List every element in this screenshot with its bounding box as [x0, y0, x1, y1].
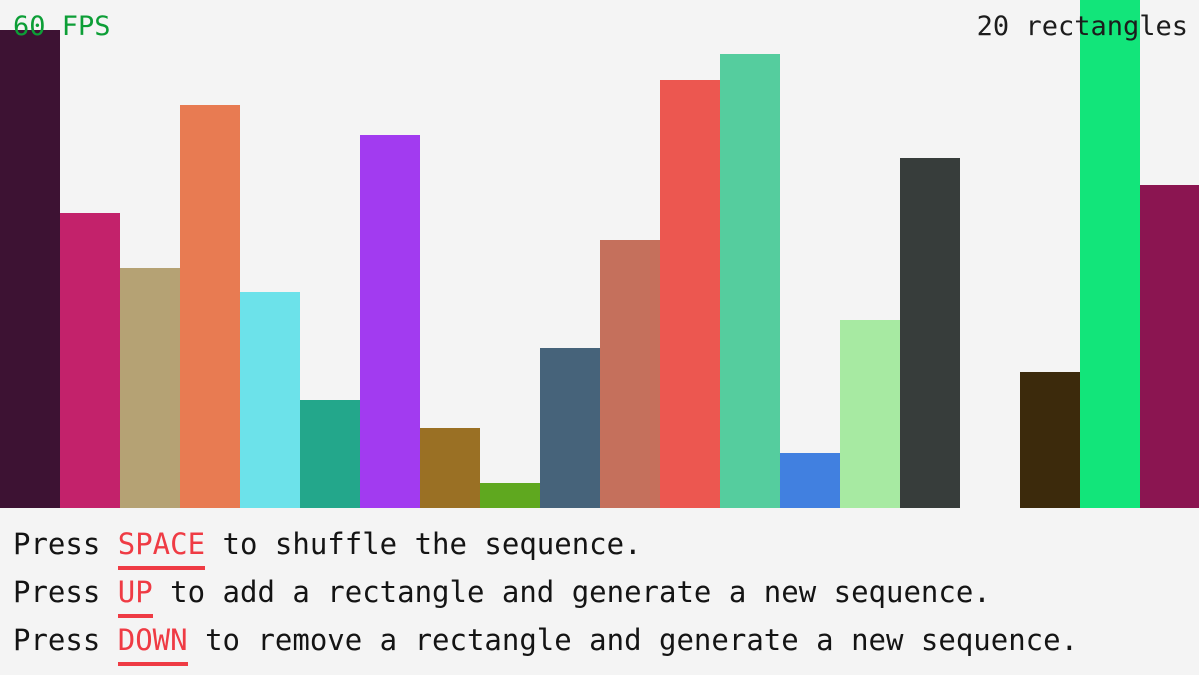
- bar-ochre: [420, 428, 480, 508]
- bar-blue: [780, 453, 840, 508]
- bar-orange: [180, 105, 240, 508]
- instruction-line-shuffle: Press SPACE to shuffle the sequence.: [13, 530, 642, 559]
- game-canvas: 60 FPS 20 rectangles Press SPACE to shuf…: [0, 0, 1199, 675]
- bar-dark-plum: [0, 30, 60, 508]
- rectangle-count-label: 20 rectangles: [977, 13, 1188, 40]
- bar-dark-brown: [1020, 372, 1080, 508]
- key-up[interactable]: UP: [118, 575, 153, 611]
- instruction-suffix: to add a rectangle and generate a new se…: [153, 575, 991, 609]
- instruction-prefix: Press: [13, 575, 118, 609]
- bar-violet: [360, 135, 420, 508]
- key-down[interactable]: DOWN: [118, 623, 188, 659]
- key-space[interactable]: SPACE: [118, 527, 205, 563]
- instruction-suffix: to remove a rectangle and generate a new…: [188, 623, 1078, 657]
- bar-cyan: [240, 292, 300, 508]
- bar-emerald: [720, 54, 780, 508]
- instructions-panel: Press SPACE to shuffle the sequence. Pre…: [0, 508, 1199, 675]
- bar-wine: [1140, 185, 1199, 508]
- bar-magenta: [60, 213, 120, 508]
- instruction-prefix: Press: [13, 623, 118, 657]
- bar-terracotta: [600, 240, 660, 508]
- instruction-line-add: Press UP to add a rectangle and generate…: [13, 578, 991, 607]
- bar-spring-green: [1080, 0, 1140, 508]
- bar-red: [660, 80, 720, 508]
- bar-olive-green: [480, 483, 540, 508]
- bar-slate-blue: [540, 348, 600, 508]
- instruction-line-remove: Press DOWN to remove a rectangle and gen…: [13, 626, 1078, 655]
- bar-tan: [120, 268, 180, 508]
- instruction-suffix: to shuffle the sequence.: [205, 527, 642, 561]
- bar-teal: [300, 400, 360, 508]
- bar-charcoal: [900, 158, 960, 508]
- fps-counter: 60 FPS: [13, 13, 111, 40]
- bar-light-green: [840, 320, 900, 508]
- bar-chart: [0, 0, 1199, 508]
- instruction-prefix: Press: [13, 527, 118, 561]
